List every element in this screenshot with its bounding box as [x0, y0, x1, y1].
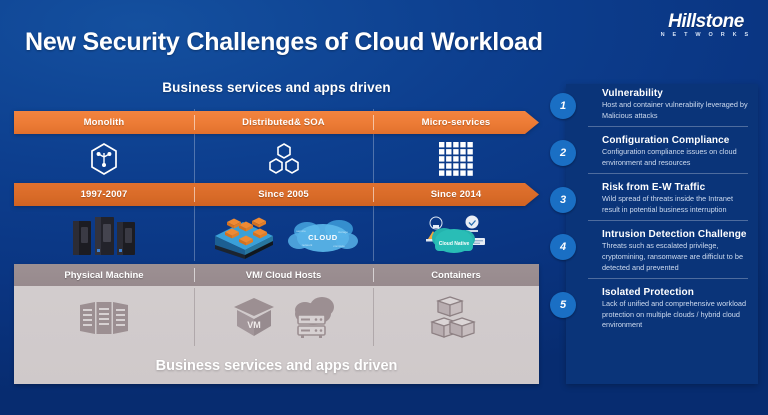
cloud-native-image: Cloud Native [373, 207, 539, 265]
challenge-title: Configuration Compliance [602, 131, 748, 146]
platform-body-divider-2 [373, 288, 374, 346]
cloud-server-icon [289, 295, 337, 339]
platform-header-containers: Containers [373, 270, 539, 281]
platform-header-separator-2 [373, 268, 374, 282]
timeline-cell-since-2005: Since 2005 [194, 189, 373, 200]
challenge-title: Risk from E-W Traffic [602, 178, 748, 193]
vm-box-icon: VM [231, 295, 277, 339]
challenge-item-configuration-compliance[interactable]: 2 Configuration Compliance Configuration… [566, 131, 758, 168]
challenge-description: Host and container vulnerability leverag… [602, 100, 748, 121]
microservices-grid-icon [373, 136, 539, 182]
logo-wordmark: Hillstone [658, 12, 754, 31]
architecture-band-separator-1 [194, 115, 195, 130]
cloud-wordcloud-image: CLOUD service storage network compute [287, 214, 359, 258]
challenge-divider [588, 220, 748, 221]
hillstone-logo: Hillstone N E T W O R K S [658, 12, 754, 39]
challenge-title: Intrusion Detection Challenge [602, 225, 748, 240]
challenge-title: Vulnerability [602, 84, 748, 99]
platform-panel-header: Physical Machine VM/ Cloud Hosts Contain… [14, 264, 539, 286]
architecture-band: Monolith Distributed& SOA Micro-services [14, 111, 539, 134]
timeline-band-separator-2 [373, 187, 374, 202]
vm-stack-image [209, 212, 279, 260]
server-towers-image [14, 207, 194, 265]
challenge-number-badge: 5 [550, 292, 576, 318]
architecture-cell-monolith: Monolith [14, 117, 194, 128]
svg-text:Cloud Native: Cloud Native [439, 241, 470, 247]
challenge-number-badge: 3 [550, 187, 576, 213]
platform-panel: Physical Machine VM/ Cloud Hosts Contain… [14, 264, 539, 384]
timeline-band-separator-1 [194, 187, 195, 202]
challenge-description: Configuration compliance issues on cloud… [602, 147, 748, 168]
svg-text:service: service [296, 229, 306, 233]
vm-and-cloud-host-icons: VM [194, 286, 373, 348]
containers-cubes-icon [373, 286, 539, 348]
logo-tagline: N E T W O R K S [658, 33, 754, 39]
platform-panel-footer: Business services and apps driven [14, 348, 539, 384]
three-hexagons-icon [194, 136, 373, 182]
architecture-band-separator-2 [373, 115, 374, 130]
challenge-number-badge: 2 [550, 140, 576, 166]
architecture-cell-distributed-soa: Distributed& SOA [194, 117, 373, 128]
server-rack-icon [14, 286, 194, 348]
platform-body-divider-1 [194, 288, 195, 346]
platform-panel-icons: VM [14, 286, 539, 348]
platform-header-physical-machine: Physical Machine [14, 270, 194, 281]
svg-text:VM: VM [247, 320, 261, 330]
svg-text:compute: compute [333, 244, 345, 248]
slide-canvas: Hillstone N E T W O R K S New Security C… [0, 0, 768, 415]
challenges-panel: 1 Vulnerability Host and container vulne… [566, 84, 758, 384]
timeline-cell-1997-2007: 1997-2007 [14, 189, 194, 200]
challenge-item-vulnerability[interactable]: 1 Vulnerability Host and container vulne… [566, 84, 758, 121]
challenge-description: Wild spread of threats inside the Intran… [602, 194, 748, 215]
challenge-item-isolated-protection[interactable]: 5 Isolated Protection Lack of unified an… [566, 283, 758, 331]
timeline-band: 1997-2007 Since 2005 Since 2014 [14, 183, 539, 206]
challenge-number-badge: 1 [550, 93, 576, 119]
architecture-icon-row [14, 136, 539, 182]
platform-header-vm-cloud-hosts: VM/ Cloud Hosts [194, 270, 373, 281]
challenge-divider [588, 173, 748, 174]
challenge-divider [588, 126, 748, 127]
svg-text:storage: storage [337, 230, 347, 234]
challenge-number-badge: 4 [550, 234, 576, 260]
virtualization-and-cloud-images: CLOUD service storage network compute [194, 207, 373, 265]
single-hexagon-node-icon [14, 136, 194, 182]
platform-header-separator-1 [194, 268, 195, 282]
challenge-item-risk-from-ew-traffic[interactable]: 3 Risk from E-W Traffic Wild spread of t… [566, 178, 758, 215]
challenge-description: Threats such as escalated privilege, cry… [602, 241, 748, 273]
page-title: New Security Challenges of Cloud Workloa… [25, 28, 543, 57]
challenge-description: Lack of unified and comprehensive worklo… [602, 299, 748, 331]
page-subtitle: Business services and apps driven [0, 80, 553, 95]
svg-text:CLOUD: CLOUD [308, 233, 338, 242]
challenge-title: Isolated Protection [602, 283, 748, 298]
challenge-divider [588, 278, 748, 279]
challenge-item-intrusion-detection-challenge[interactable]: 4 Intrusion Detection Challenge Threats … [566, 225, 758, 273]
infrastructure-image-row: CLOUD service storage network compute [14, 207, 539, 265]
svg-text:network: network [301, 243, 312, 247]
architecture-cell-microservices: Micro-services [373, 117, 539, 128]
timeline-cell-since-2014: Since 2014 [373, 189, 539, 200]
